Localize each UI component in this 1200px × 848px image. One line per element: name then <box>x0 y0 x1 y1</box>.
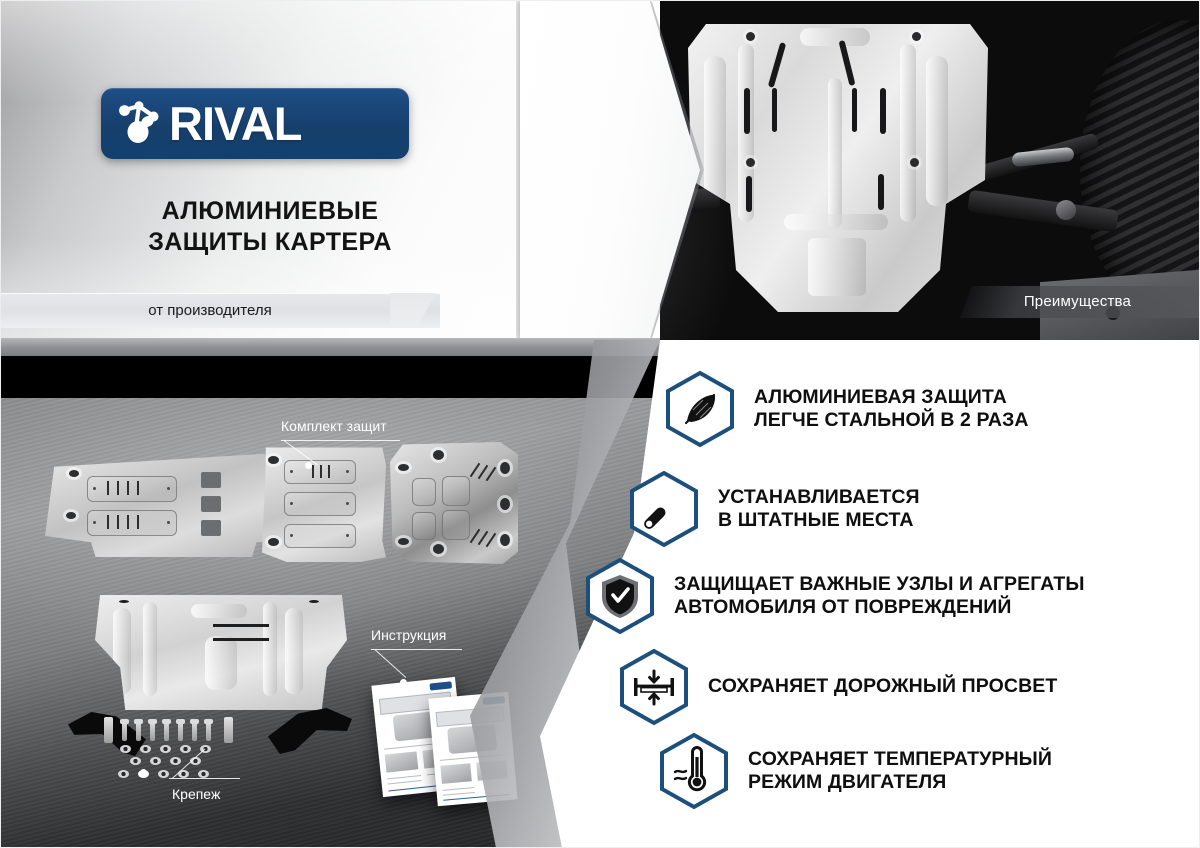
installed-skid-plate <box>688 18 988 318</box>
header-divider-strip <box>0 338 660 356</box>
leaf-icon <box>664 370 736 448</box>
ground-clearance-icon <box>618 648 690 726</box>
advantage-item-temperature[interactable]: СОХРАНЯЕТ ТЕМПЕРАТУРНЫЙ РЕЖИМ ДВИГАТЕЛЯ <box>658 732 1052 810</box>
callout-fasteners-label: Крепеж <box>172 786 220 802</box>
advantage-item-weight[interactable]: АЛЮМИНИЕВАЯ ЗАЩИТА ЛЕГЧЕ СТАЛЬНОЙ В 2 РА… <box>664 370 1029 448</box>
callout-kit: Комплект защит <box>281 418 387 434</box>
subtitle-label: от производителя <box>0 293 420 328</box>
advantage-item-clearance[interactable]: СОХРАНЯЕТ ДОРОЖНЫЙ ПРОСВЕТ <box>618 648 1057 726</box>
thermometer-icon <box>658 732 730 810</box>
callout-kit-dot <box>305 462 312 469</box>
advantage-label-temperature: СОХРАНЯЕТ ТЕМПЕРАТУРНЫЙ РЕЖИМ ДВИГАТЕЛЯ <box>748 748 1052 795</box>
advantage-label-weight: АЛЮМИНИЕВАЯ ЗАЩИТА ЛЕГЧЕ СТАЛЬНОЙ В 2 РА… <box>754 386 1029 433</box>
callout-instruction: Инструкция <box>371 627 446 643</box>
callout-kit-label: Комплект защит <box>281 418 387 434</box>
tie-rod-right <box>1011 147 1074 167</box>
molecule-icon <box>109 93 171 155</box>
advantage-item-protection[interactable]: ЗАЩИЩАЕТ ВАЖНЫЕ УЗЛЫ И АГРЕГАТЫ АВТОМОБИ… <box>584 557 1085 635</box>
advantage-label-protection: ЗАЩИЩАЕТ ВАЖНЫЕ УЗЛЫ И АГРЕГАТЫ АВТОМОБИ… <box>674 573 1085 620</box>
black-divider-band <box>0 356 660 398</box>
callout-fasteners-dot <box>140 769 147 776</box>
wrench-icon <box>628 470 700 548</box>
page-title-line1: АЛЮМИНИЕВЫЕ <box>60 196 480 227</box>
page-title-line2: ЗАЩИТЫ КАРТЕРА <box>60 227 480 258</box>
rival-logo[interactable]: RIVAL <box>101 88 409 159</box>
callout-instruction-label: Инструкция <box>371 627 446 643</box>
skid-plate-center <box>262 444 386 562</box>
skid-plate-front <box>95 590 347 715</box>
advantage-label-fitment: УСТАНАВЛИВАЕТСЯ В ШТАТНЫЕ МЕСТА <box>718 486 920 533</box>
advantage-item-fitment[interactable]: УСТАНАВЛИВАЕТСЯ В ШТАТНЫЕ МЕСТА <box>628 470 920 548</box>
poster-root: Преимущества RIVAL АЛЮМИНИЕВЫЕ <box>0 0 1200 848</box>
callout-fasteners: Крепеж <box>172 786 220 802</box>
rival-wordmark: RIVAL <box>169 100 302 147</box>
callout-instruction-dot <box>400 679 407 686</box>
skid-plate-right <box>390 442 518 564</box>
sheet-logo-icon <box>429 681 452 690</box>
shield-check-icon <box>584 557 656 635</box>
photo-caption-banner: Преимущества <box>960 286 1200 318</box>
page-title: АЛЮМИНИЕВЫЕ ЗАЩИТЫ КАРТЕРА <box>60 196 480 257</box>
advantage-label-clearance: СОХРАНЯЕТ ДОРОЖНЫЙ ПРОСВЕТ <box>708 675 1057 698</box>
photo-caption-label: Преимущества <box>966 286 1200 318</box>
ball-joint-right <box>1056 200 1076 220</box>
